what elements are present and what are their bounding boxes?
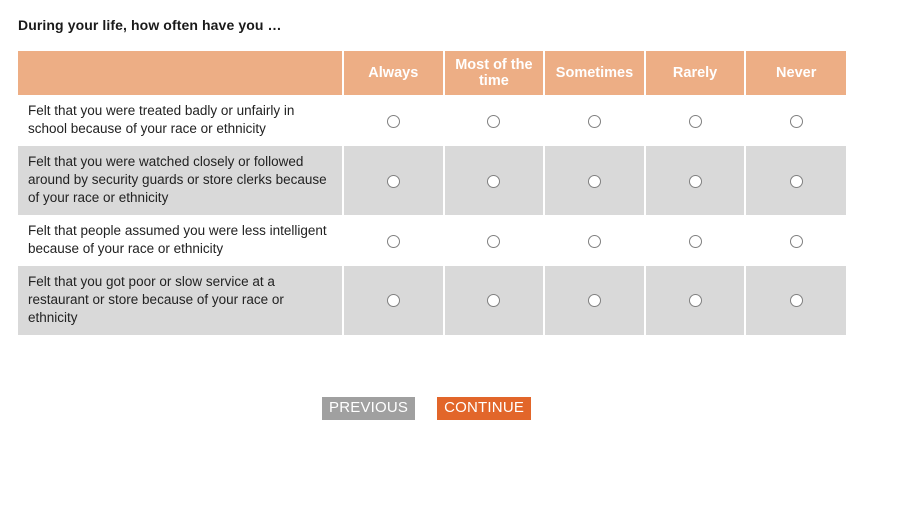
radio-cell-most-of-the-time[interactable] xyxy=(444,215,545,266)
radio-button-icon[interactable] xyxy=(689,294,702,307)
matrix-question-label: Felt that people assumed you were less i… xyxy=(18,215,343,266)
table-row: Felt that you got poor or slow service a… xyxy=(18,266,846,335)
radio-button-icon[interactable] xyxy=(487,175,500,188)
radio-button-icon[interactable] xyxy=(790,115,803,128)
radio-button-icon[interactable] xyxy=(387,175,400,188)
matrix-column-header-rarely: Rarely xyxy=(645,51,746,95)
radio-cell-rarely[interactable] xyxy=(645,146,746,215)
matrix-question-label: Felt that you got poor or slow service a… xyxy=(18,266,343,335)
radio-button-icon[interactable] xyxy=(588,294,601,307)
matrix-header-row: Always Most of the time Sometimes Rarely… xyxy=(18,51,846,95)
radio-button-icon[interactable] xyxy=(588,235,601,248)
radio-button-icon[interactable] xyxy=(790,294,803,307)
radio-cell-never[interactable] xyxy=(745,266,846,335)
matrix-column-header-never: Never xyxy=(745,51,846,95)
radio-button-icon[interactable] xyxy=(689,115,702,128)
matrix-question-label: Felt that you were watched closely or fo… xyxy=(18,146,343,215)
radio-cell-never[interactable] xyxy=(745,146,846,215)
survey-matrix-table: Always Most of the time Sometimes Rarely… xyxy=(18,51,846,335)
radio-button-icon[interactable] xyxy=(387,294,400,307)
radio-cell-sometimes[interactable] xyxy=(544,215,645,266)
radio-cell-rarely[interactable] xyxy=(645,266,746,335)
matrix-question-column-header xyxy=(18,51,343,95)
radio-button-icon[interactable] xyxy=(588,175,601,188)
radio-cell-most-of-the-time[interactable] xyxy=(444,266,545,335)
radio-button-icon[interactable] xyxy=(387,235,400,248)
table-row: Felt that you were treated badly or unfa… xyxy=(18,95,846,146)
radio-cell-never[interactable] xyxy=(745,95,846,146)
radio-button-icon[interactable] xyxy=(487,115,500,128)
radio-cell-most-of-the-time[interactable] xyxy=(444,146,545,215)
radio-cell-rarely[interactable] xyxy=(645,215,746,266)
radio-cell-always[interactable] xyxy=(343,215,444,266)
continue-button[interactable]: CONTINUE xyxy=(437,397,531,420)
matrix-question-label: Felt that you were treated badly or unfa… xyxy=(18,95,343,146)
table-row: Felt that people assumed you were less i… xyxy=(18,215,846,266)
matrix-column-header-always: Always xyxy=(343,51,444,95)
previous-button[interactable]: PREVIOUS xyxy=(322,397,415,420)
radio-cell-most-of-the-time[interactable] xyxy=(444,95,545,146)
navigation-buttons: PREVIOUS CONTINUE xyxy=(322,397,531,420)
radio-button-icon[interactable] xyxy=(487,294,500,307)
radio-cell-rarely[interactable] xyxy=(645,95,746,146)
matrix-column-header-most-of-the-time: Most of the time xyxy=(444,51,545,95)
radio-button-icon[interactable] xyxy=(689,235,702,248)
radio-cell-sometimes[interactable] xyxy=(544,95,645,146)
radio-button-icon[interactable] xyxy=(487,235,500,248)
radio-button-icon[interactable] xyxy=(588,115,601,128)
radio-cell-sometimes[interactable] xyxy=(544,146,645,215)
radio-button-icon[interactable] xyxy=(387,115,400,128)
table-row: Felt that you were watched closely or fo… xyxy=(18,146,846,215)
radio-button-icon[interactable] xyxy=(790,235,803,248)
radio-cell-sometimes[interactable] xyxy=(544,266,645,335)
radio-cell-never[interactable] xyxy=(745,215,846,266)
matrix-column-header-sometimes: Sometimes xyxy=(544,51,645,95)
radio-cell-always[interactable] xyxy=(343,266,444,335)
page-title: During your life, how often have you … xyxy=(18,17,282,33)
radio-button-icon[interactable] xyxy=(790,175,803,188)
radio-button-icon[interactable] xyxy=(689,175,702,188)
radio-cell-always[interactable] xyxy=(343,146,444,215)
radio-cell-always[interactable] xyxy=(343,95,444,146)
